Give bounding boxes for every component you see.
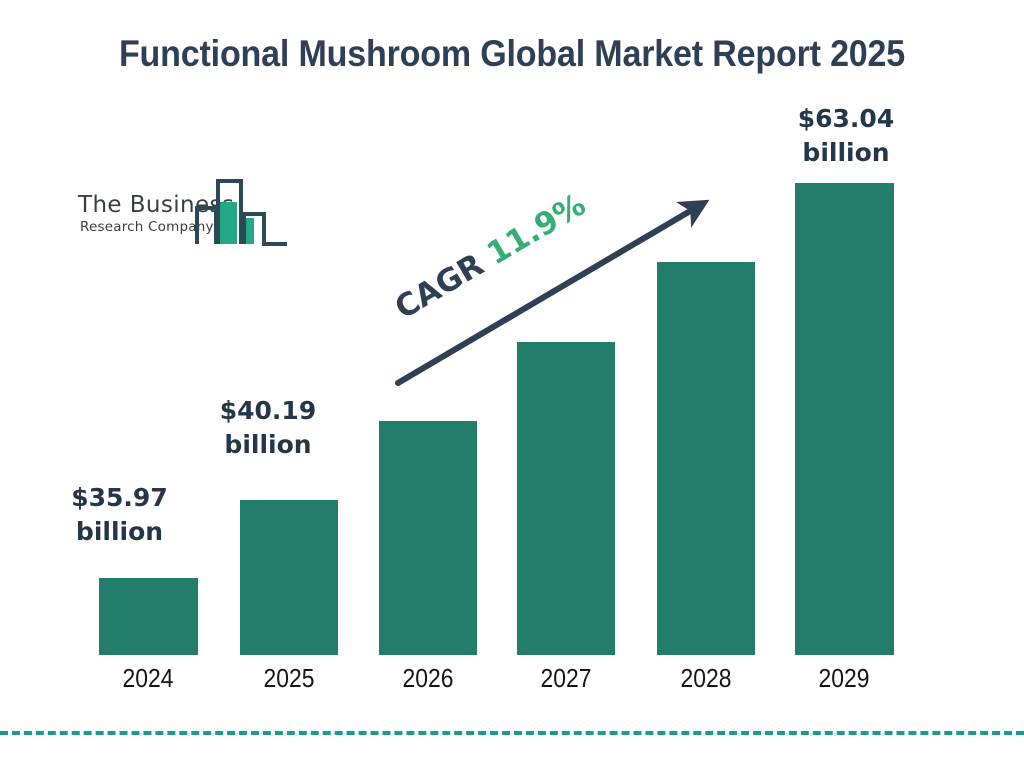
- x-label-2026: 2026: [384, 663, 472, 694]
- x-label-2029: 2029: [800, 663, 888, 694]
- cagr-arrow-icon: [0, 0, 1024, 768]
- chart-canvas: Functional Mushroom Global Market Report…: [0, 0, 1024, 768]
- x-label-2028: 2028: [662, 663, 750, 694]
- footer-divider: [0, 731, 1024, 735]
- x-label-2025: 2025: [245, 663, 333, 694]
- x-label-2027: 2027: [522, 663, 610, 694]
- x-label-2024: 2024: [104, 663, 192, 694]
